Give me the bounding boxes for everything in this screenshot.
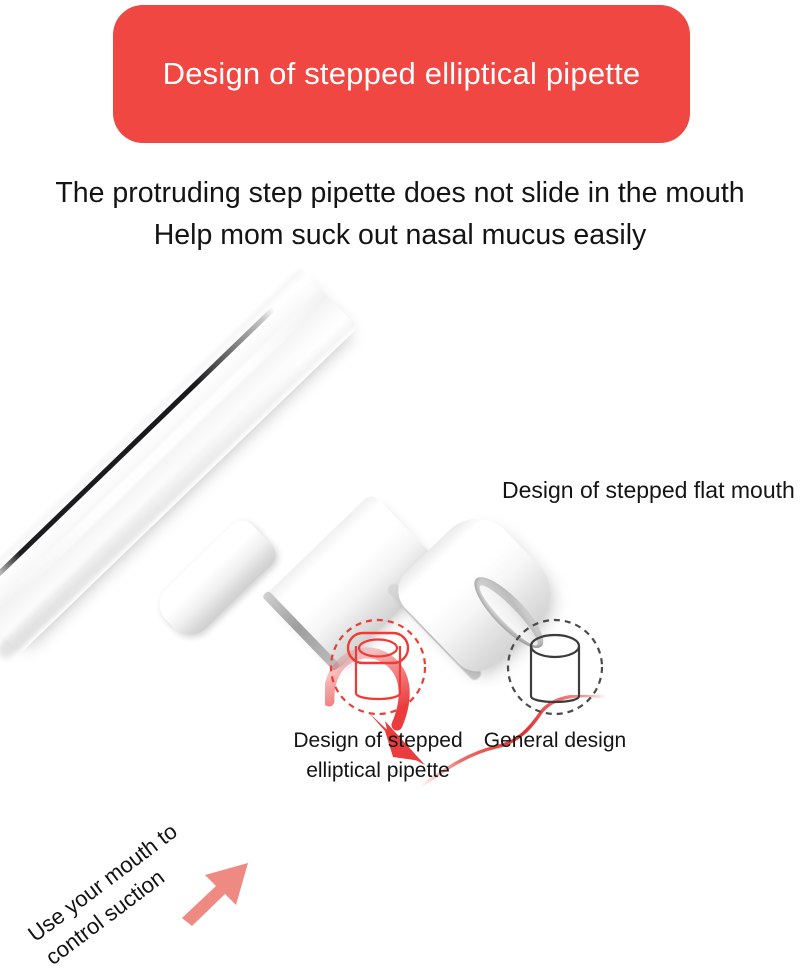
subtitle-line-2: Help mom suck out nasal mucus easily	[0, 214, 800, 256]
banner-title: Design of stepped elliptical pipette	[163, 56, 641, 92]
subtitle-line-1: The protruding step pipette does not sli…	[0, 172, 800, 214]
stepped-caption: Design of stepped elliptical pipette	[288, 726, 468, 786]
comparison-general: General design	[465, 618, 645, 756]
comparison-stepped: Design of stepped elliptical pipette	[288, 618, 468, 786]
inner-plunger	[151, 515, 282, 644]
general-caption-line-1: General design	[465, 726, 645, 756]
header-banner: Design of stepped elliptical pipette	[113, 5, 690, 143]
general-caption: General design	[465, 726, 645, 756]
subtitle-block: The protruding step pipette does not sli…	[0, 172, 800, 256]
stepped-caption-line-1: Design of stepped	[288, 726, 468, 756]
stepped-caption-line-2: elliptical pipette	[288, 756, 468, 786]
general-pipette-icon	[465, 618, 645, 720]
flat-mouth-callout-label: Design of stepped flat mouth	[502, 477, 795, 504]
stepped-pipette-icon	[288, 618, 468, 720]
infographic-page: Design of stepped elliptical pipette The…	[0, 0, 800, 800]
